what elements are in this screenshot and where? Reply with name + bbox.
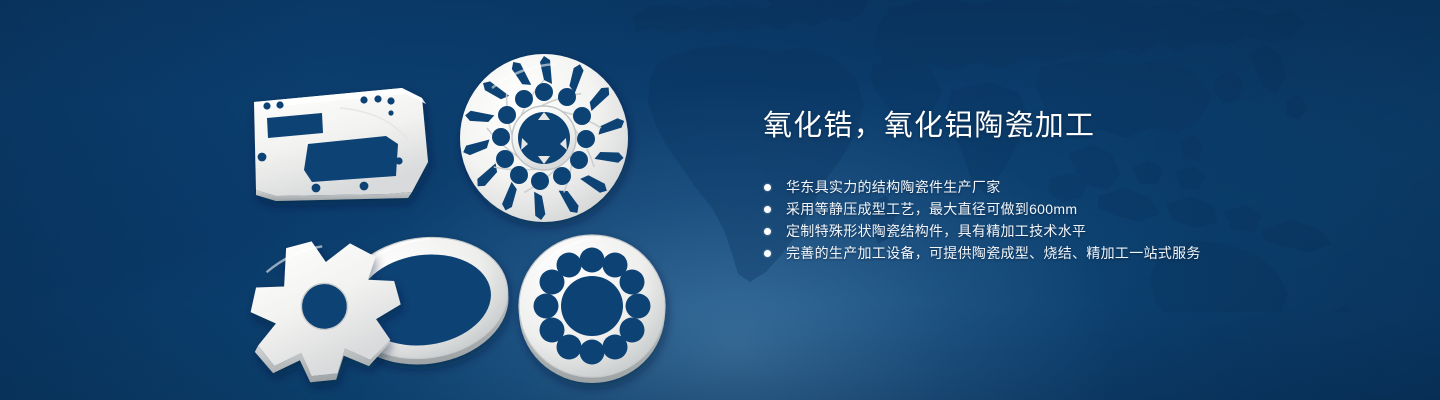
bullet-dot-icon [764, 228, 771, 235]
ceramic-products-group [236, 44, 706, 384]
list-item: 定制特殊形状陶瓷结构件，具有精加工技术水平 [763, 220, 1323, 242]
list-item: 采用等静压成型工艺，最大直径可做到600mm [763, 198, 1323, 220]
bullet-dot-icon [764, 184, 771, 191]
ceramic-machined-plate [254, 88, 428, 201]
list-item-label: 采用等静压成型工艺，最大直径可做到600mm [786, 201, 1077, 217]
bullet-dot-icon [764, 250, 771, 257]
ceramic-impeller-disc [460, 54, 628, 222]
list-item-label: 定制特殊形状陶瓷结构件，具有精加工技术水平 [786, 223, 1086, 239]
ceramic-processing-banner: 氧化锆，氧化铝陶瓷加工 华东具实力的结构陶瓷件生产厂家 采用等静压成型工艺，最大… [0, 0, 1440, 400]
list-item-label: 华东具实力的结构陶瓷件生产厂家 [786, 179, 1001, 195]
list-item: 华东具实力的结构陶瓷件生产厂家 [763, 176, 1323, 198]
bullet-dot-icon [764, 206, 771, 213]
list-item-label: 完善的生产加工设备，可提供陶瓷成型、烧结、精加工一站式服务 [786, 245, 1201, 261]
page-title: 氧化锆，氧化铝陶瓷加工 [763, 108, 1323, 144]
ceramic-hole-ring-plate [519, 235, 665, 383]
feature-list: 华东具实力的结构陶瓷件生产厂家 采用等静压成型工艺，最大直径可做到600mm 定… [763, 176, 1323, 264]
list-item: 完善的生产加工设备，可提供陶瓷成型、烧结、精加工一站式服务 [763, 242, 1323, 264]
banner-text-column: 氧化锆，氧化铝陶瓷加工 华东具实力的结构陶瓷件生产厂家 采用等静压成型工艺，最大… [763, 108, 1323, 264]
